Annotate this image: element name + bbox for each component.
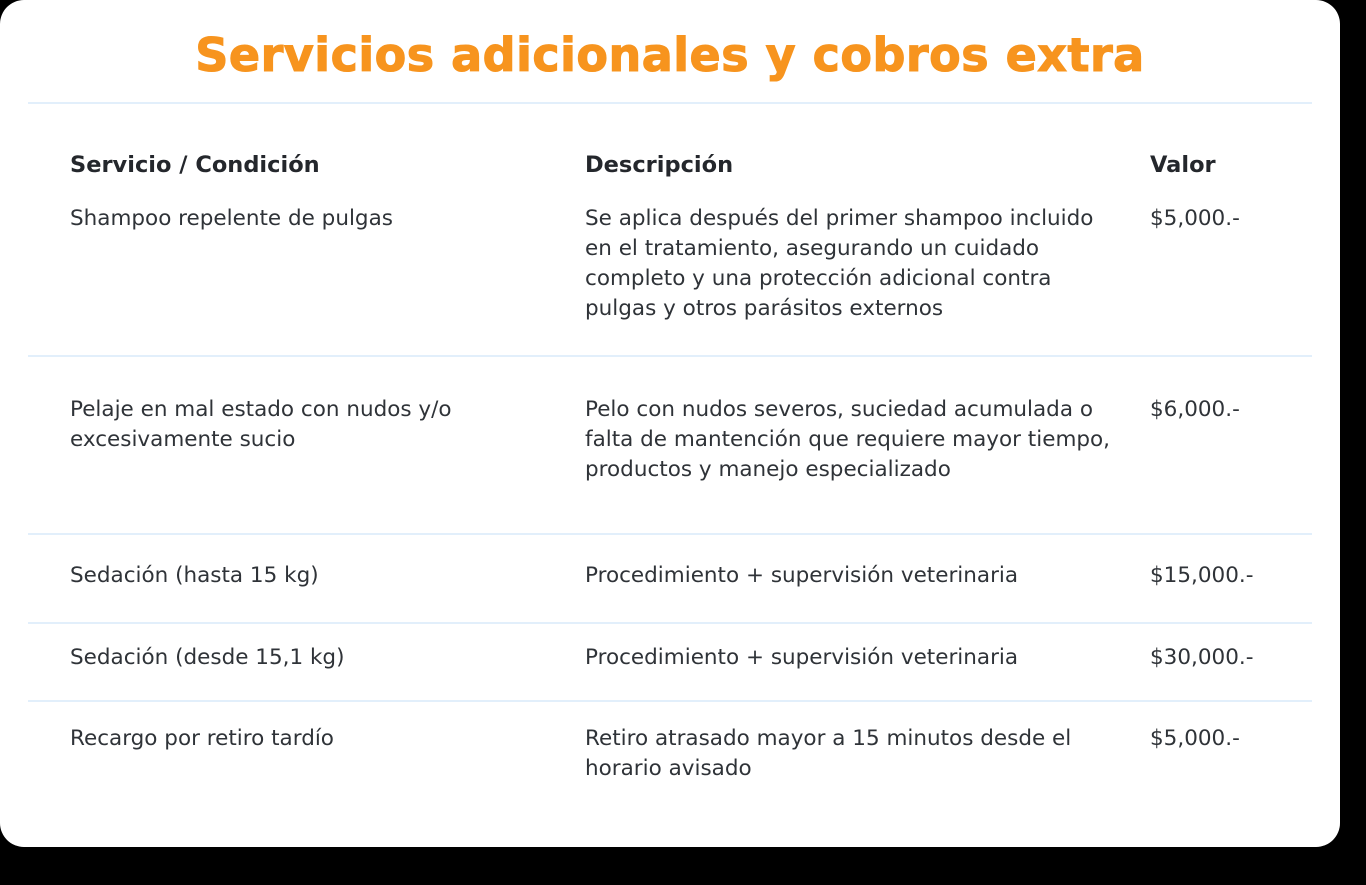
cell-descripcion: Procedimiento + supervisión veterinaria [585, 561, 1125, 591]
cell-descripcion: Procedimiento + supervisión veterinaria [585, 643, 1125, 673]
cell-valor: $6,000.- [1150, 395, 1330, 425]
cell-descripcion: Retiro atrasado mayor a 15 minutos desde… [585, 724, 1125, 784]
cell-servicio: Pelaje en mal estado con nudos y/o exces… [70, 395, 570, 455]
cell-valor: $5,000.- [1150, 724, 1330, 754]
row-divider [28, 355, 1312, 357]
cell-servicio: Shampoo repelente de pulgas [70, 204, 570, 234]
page-title: Servicios adicionales y cobros extra [0, 28, 1340, 82]
cell-servicio: Sedación (hasta 15 kg) [70, 561, 570, 591]
title-divider [28, 102, 1312, 104]
cell-servicio: Sedación (desde 15,1 kg) [70, 643, 570, 673]
row-divider [28, 533, 1312, 535]
pricing-card: Servicios adicionales y cobros extra Ser… [0, 0, 1340, 847]
column-header-valor: Valor [1150, 150, 1330, 180]
cell-descripcion: Se aplica después del primer shampoo inc… [585, 204, 1125, 324]
cell-valor: $5,000.- [1150, 204, 1330, 234]
cell-valor: $15,000.- [1150, 561, 1330, 591]
cell-descripcion: Pelo con nudos severos, suciedad acumula… [585, 395, 1125, 485]
row-divider [28, 622, 1312, 624]
column-header-servicio: Servicio / Condición [70, 150, 570, 180]
cell-valor: $30,000.- [1150, 643, 1330, 673]
cell-servicio: Recargo por retiro tardío [70, 724, 570, 754]
column-header-descripcion: Descripción [585, 150, 1125, 180]
row-divider [28, 700, 1312, 702]
